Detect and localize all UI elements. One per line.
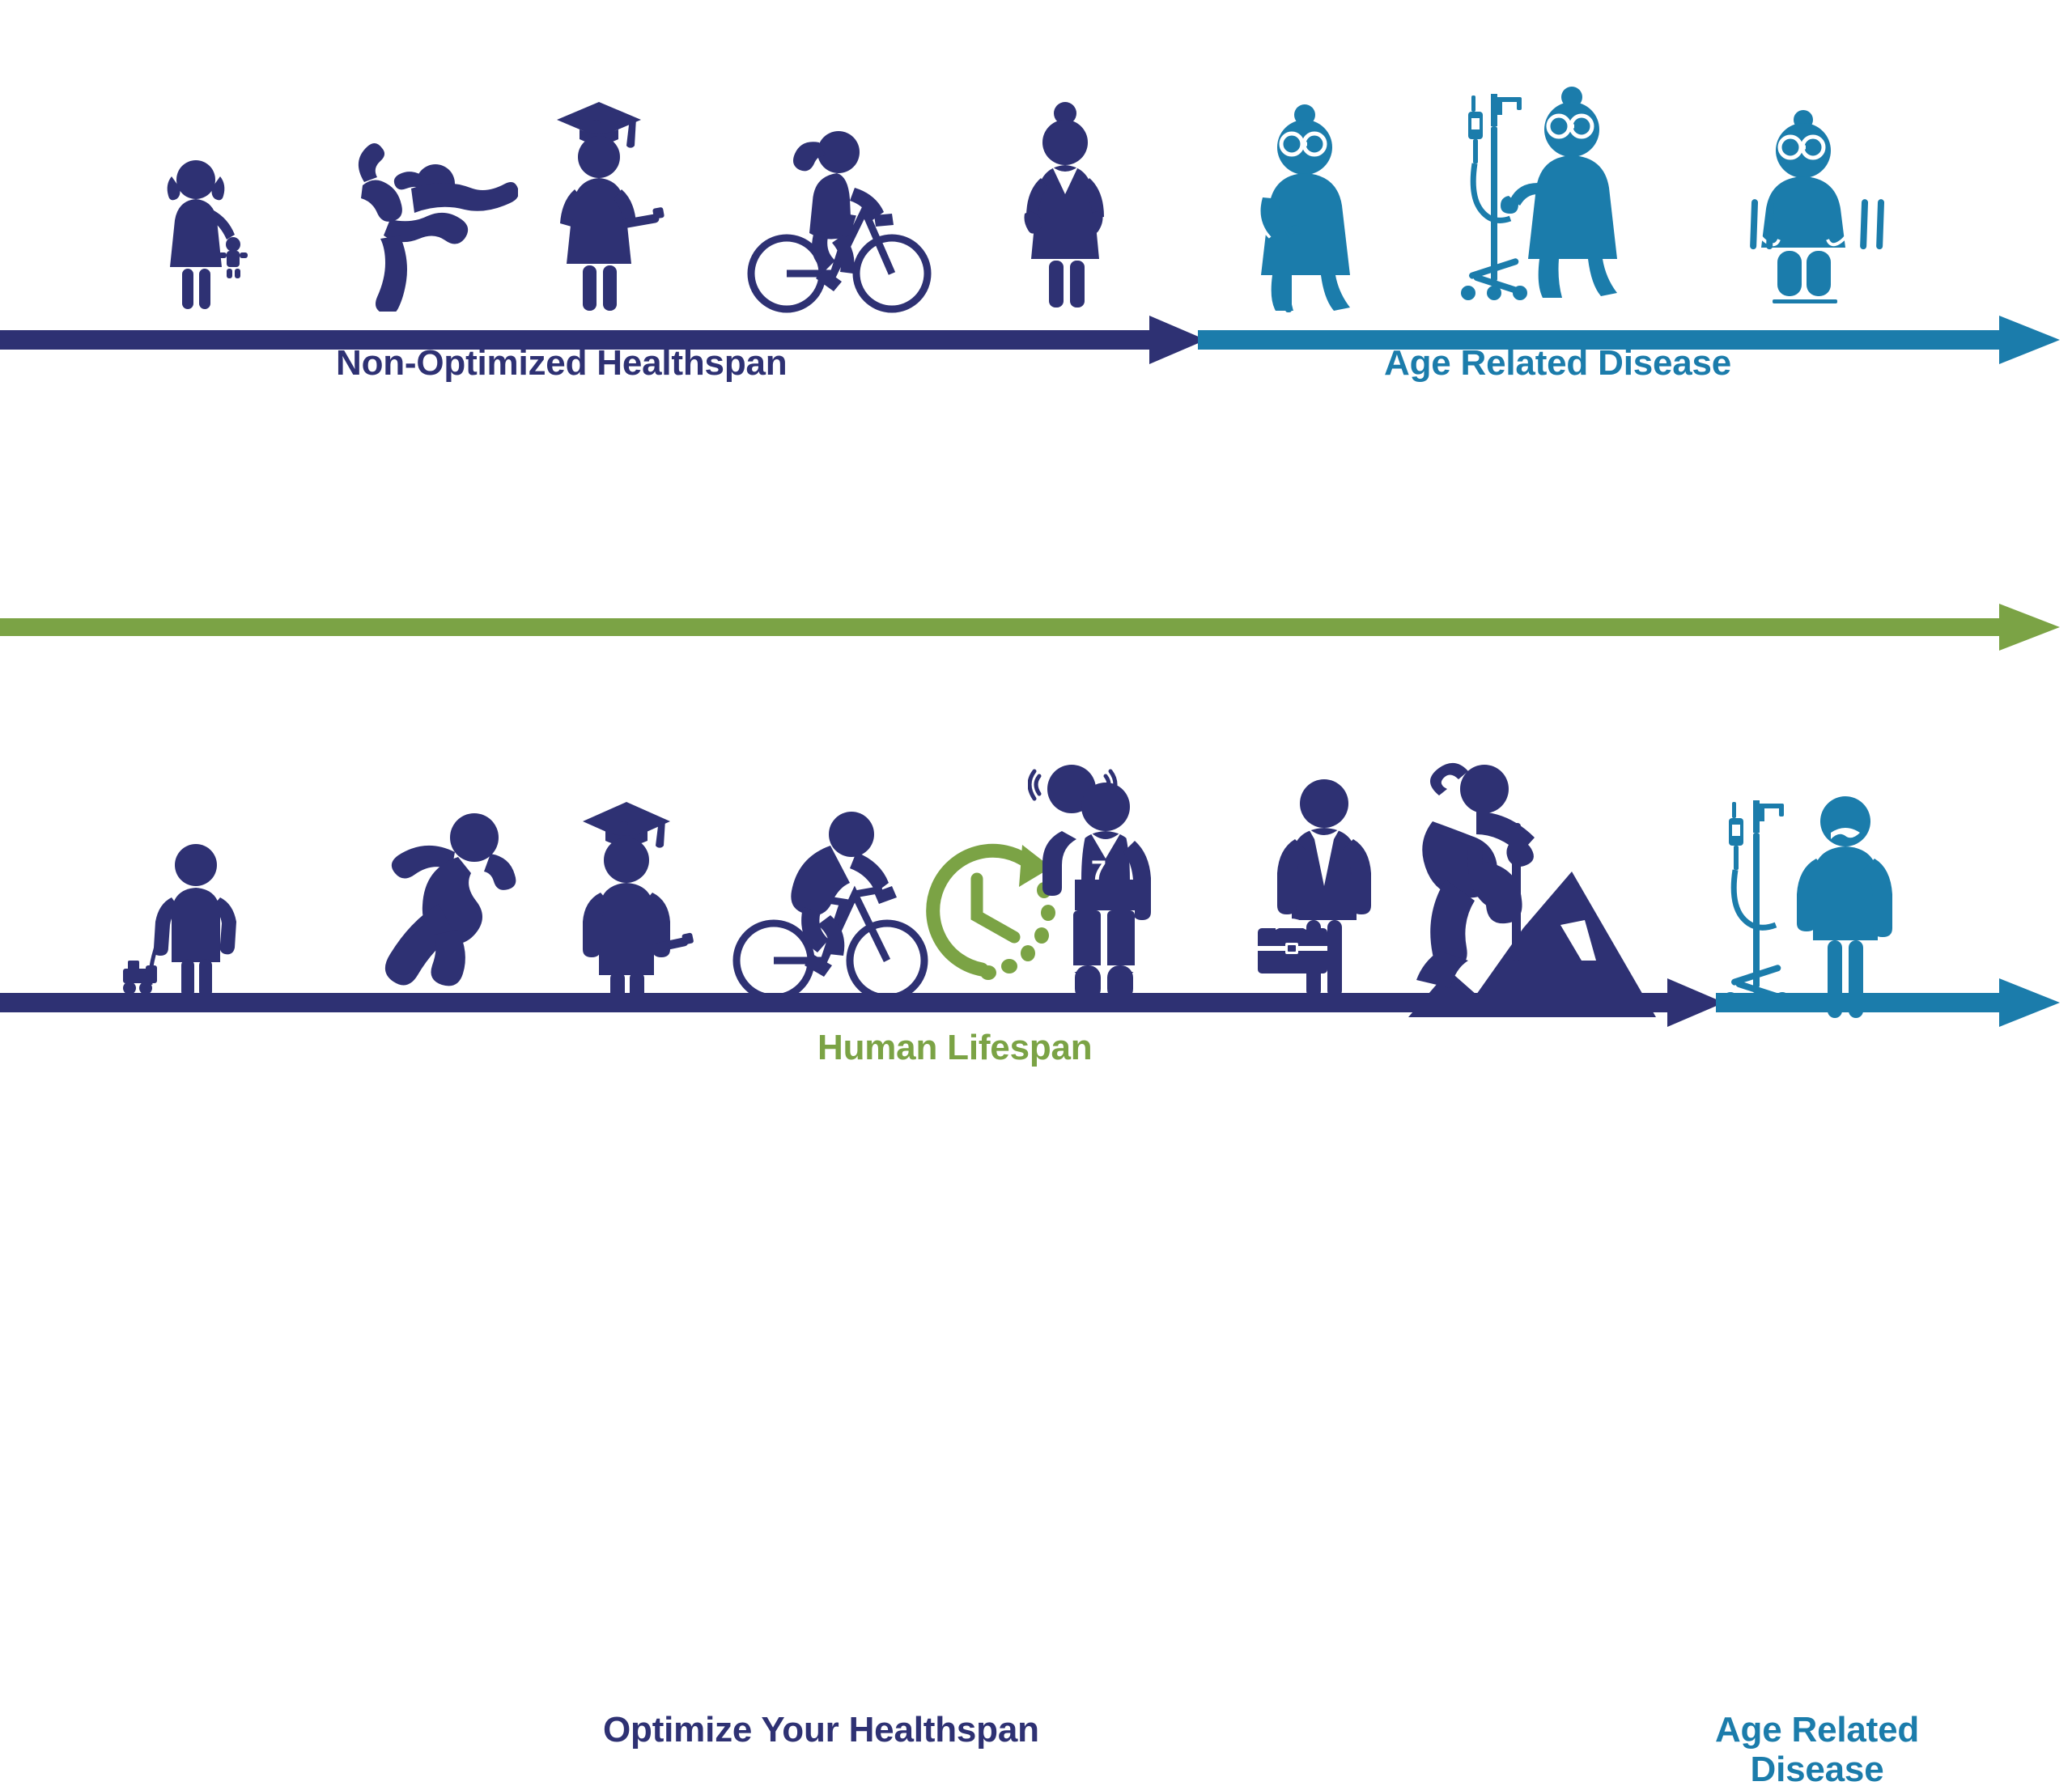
healthspan-lifespan-infographic: Non-Optimized Healthspan Age Related Dis…	[0, 0, 2072, 1164]
middle-timeline-row: Human Lifespan	[0, 405, 2072, 696]
figure-girl-gymnast	[316, 85, 518, 312]
figure-businessman-with-briefcase	[1246, 776, 1400, 1003]
figure-girl-with-doll	[154, 154, 267, 316]
figure-woman-graduate	[542, 89, 672, 316]
timeline-bottom	[0, 973, 2072, 1032]
label-optimize-your-healthspan: Optimize Your Healthspan	[603, 1710, 1039, 1750]
timeline-top	[0, 311, 2072, 369]
bottom-timeline-row: 7	[0, 696, 2072, 1164]
timeline-middle	[0, 597, 2072, 655]
figure-man-graduate	[567, 792, 704, 1003]
figure-elderly-woman-with-cane	[1246, 97, 1392, 316]
svg-text:7: 7	[1091, 855, 1106, 886]
figure-basketball-player: 7	[1028, 760, 1174, 1003]
label-age-related-disease-top: Age Related Disease	[1384, 343, 1731, 383]
figure-woman-cyclist	[745, 113, 947, 324]
label-age-related-disease-bottom: Age Related Disease	[1696, 1710, 1938, 1790]
bottom-row-figures: 7	[0, 696, 2072, 1164]
figure-elderly-woman-with-iv-drip	[1449, 73, 1635, 316]
figure-businesswoman	[1012, 89, 1133, 316]
figure-elderly-woman-in-wheelchair	[1732, 97, 1894, 316]
top-timeline-row: Non-Optimized Healthspan Age Related Dis…	[0, 0, 2072, 405]
label-non-optimized-healthspan: Non-Optimized Healthspan	[336, 343, 787, 383]
